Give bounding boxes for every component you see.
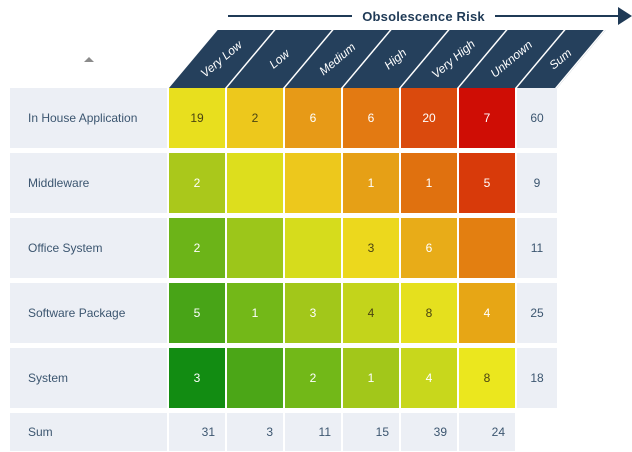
row-label-office-system[interactable]: Office System: [10, 218, 167, 278]
column-sum-cell: 31: [169, 413, 227, 451]
heatmap-grid: In House Application1926620760Middleware…: [0, 88, 632, 451]
grand-total-value: [517, 413, 557, 451]
heatmap-cell[interactable]: 1: [401, 153, 459, 213]
row-sum-value: 9: [517, 153, 557, 213]
heatmap-cell[interactable]: 6: [343, 88, 401, 148]
column-sum-cell: 24: [459, 413, 517, 451]
heatmap-cell[interactable]: 2: [285, 348, 343, 408]
column-header-label: Sum: [546, 46, 574, 73]
column-sum-cell: 11: [285, 413, 343, 451]
heatmap-cell-value: 1: [252, 306, 259, 320]
row-label-system[interactable]: System: [10, 348, 167, 408]
heatmap-cell[interactable]: 2: [227, 88, 285, 148]
heatmap-cell-value: 1: [368, 176, 375, 190]
axis-title: Obsolescence Risk: [352, 9, 495, 24]
heatmap-cell-value: 4: [426, 371, 433, 385]
heatmap-cell[interactable]: [227, 218, 285, 278]
heatmap-cell-value: 6: [426, 241, 433, 255]
heatmap-cell-value: 6: [310, 111, 317, 125]
heatmap-cell[interactable]: 8: [459, 348, 517, 408]
heatmap-chart: Obsolescence Risk Very LowLowMediumHighV…: [0, 0, 632, 452]
row-sum-value: 18: [517, 348, 557, 408]
heatmap-cell-value: 8: [426, 306, 433, 320]
row-label-in-house-application[interactable]: In House Application: [10, 88, 167, 148]
heatmap-cell-value: 3: [368, 241, 375, 255]
table-row-sum: Sum31311153924: [0, 413, 567, 451]
heatmap-cell[interactable]: 3: [285, 283, 343, 343]
heatmap-cell-value: 2: [252, 111, 259, 125]
column-header-label: Low: [266, 47, 292, 72]
heatmap-cell-value: 1: [426, 176, 433, 190]
heatmap-cell[interactable]: [227, 348, 285, 408]
heatmap-cell[interactable]: 3: [169, 348, 227, 408]
heatmap-cell[interactable]: [285, 153, 343, 213]
heatmap-cell[interactable]: 1: [343, 153, 401, 213]
heatmap-cell[interactable]: 5: [169, 283, 227, 343]
heatmap-cell[interactable]: [459, 218, 517, 278]
arrow-right-icon: [618, 7, 632, 25]
heatmap-cell-value: 2: [194, 241, 201, 255]
axis-line-right: [495, 15, 619, 17]
heatmap-cell-value: 7: [484, 111, 491, 125]
column-sum-value: 15: [376, 425, 389, 439]
column-header-label: High: [381, 46, 409, 73]
table-row: Software Package51348425: [0, 283, 567, 343]
heatmap-cell-value: 8: [484, 371, 491, 385]
heatmap-cell[interactable]: 4: [401, 348, 459, 408]
heatmap-cell-value: 4: [484, 306, 491, 320]
table-row: Office System23611: [0, 218, 567, 278]
row-sum-value: 25: [517, 283, 557, 343]
row-sum-value: 11: [517, 218, 557, 278]
heatmap-cell-value: 6: [368, 111, 375, 125]
table-row: Middleware21159: [0, 153, 567, 213]
heatmap-cell[interactable]: 1: [343, 348, 401, 408]
row-label-software-package[interactable]: Software Package: [10, 283, 167, 343]
column-sum-cell: 39: [401, 413, 459, 451]
table-row: System3214818: [0, 348, 567, 408]
heatmap-cell[interactable]: 4: [459, 283, 517, 343]
axis-title-bar: Obsolescence Risk: [228, 4, 632, 28]
column-sum-value: 24: [492, 425, 505, 439]
axis-line-left: [228, 15, 352, 17]
column-sum-value: 11: [319, 425, 331, 439]
heatmap-cell[interactable]: 2: [169, 218, 227, 278]
heatmap-cell-value: 4: [368, 306, 375, 320]
column-sum-cell: 15: [343, 413, 401, 451]
heatmap-cell[interactable]: 6: [285, 88, 343, 148]
heatmap-cell-value: 2: [310, 371, 317, 385]
heatmap-cell[interactable]: [285, 218, 343, 278]
heatmap-cell-value: 20: [422, 111, 435, 125]
column-sum-value: 3: [266, 425, 273, 439]
heatmap-cell-value: 3: [194, 371, 201, 385]
row-label-middleware[interactable]: Middleware: [10, 153, 167, 213]
table-row: In House Application1926620760: [0, 88, 567, 148]
heatmap-cell[interactable]: 20: [401, 88, 459, 148]
row-label-sum: Sum: [10, 413, 167, 451]
heatmap-cell-value: 5: [484, 176, 491, 190]
heatmap-cell[interactable]: 7: [459, 88, 517, 148]
row-sum-value: 60: [517, 88, 557, 148]
column-sum-value: 39: [434, 425, 447, 439]
heatmap-cell-value: 5: [194, 306, 201, 320]
column-header-band: Very LowLowMediumHighVery HighUnknownSum: [169, 30, 567, 88]
heatmap-cell[interactable]: 2: [169, 153, 227, 213]
column-sum-value: 31: [202, 425, 215, 439]
heatmap-cell[interactable]: 8: [401, 283, 459, 343]
heatmap-cell-value: 19: [190, 111, 203, 125]
heatmap-cell[interactable]: [227, 153, 285, 213]
heatmap-cell[interactable]: 5: [459, 153, 517, 213]
heatmap-cell[interactable]: 3: [343, 218, 401, 278]
heatmap-cell-value: 3: [310, 306, 317, 320]
triangle-up-icon[interactable]: [84, 57, 94, 62]
column-sum-cell: 3: [227, 413, 285, 451]
heatmap-cell-value: 1: [368, 371, 375, 385]
heatmap-cell[interactable]: 1: [227, 283, 285, 343]
column-header-label: Medium: [316, 40, 358, 78]
heatmap-cell[interactable]: 6: [401, 218, 459, 278]
heatmap-cell-value: 2: [194, 176, 201, 190]
heatmap-cell[interactable]: 4: [343, 283, 401, 343]
heatmap-cell[interactable]: 19: [169, 88, 227, 148]
